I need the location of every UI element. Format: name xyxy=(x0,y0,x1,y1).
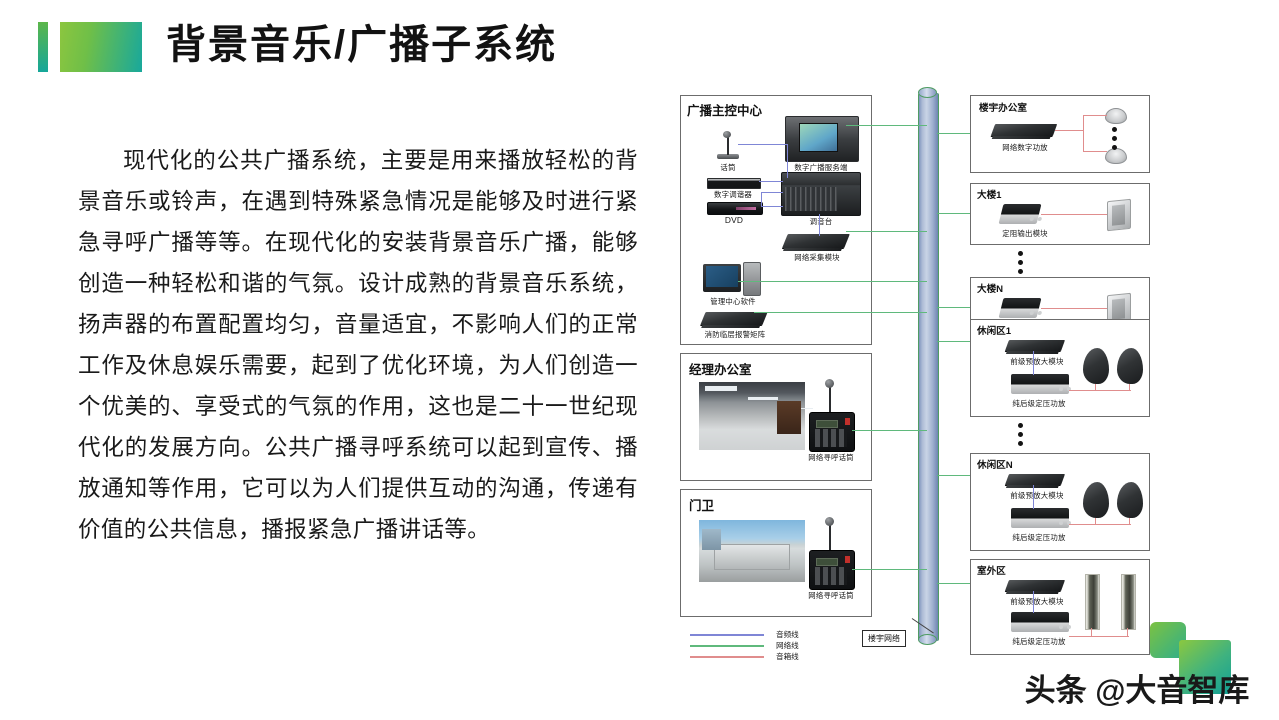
panel-manager-office: 经理办公室 网络寻呼话筒 xyxy=(680,353,872,481)
network-wire xyxy=(754,312,927,313)
panel-building-1: 大楼1 定阻输出模块 xyxy=(970,183,1150,245)
panel-title: 大楼N xyxy=(977,281,1003,295)
speaker-wire xyxy=(1083,151,1107,152)
watermark-text: 头条 @大音智库 xyxy=(995,665,1279,710)
device-label: 网络采集模块 xyxy=(794,252,840,263)
network-digital-amplifier-icon xyxy=(991,124,1057,136)
page-title: 背景音乐/广播子系统 xyxy=(166,14,557,76)
projection-speaker-icon xyxy=(1117,348,1143,384)
speaker-wire xyxy=(1041,308,1107,309)
leisure-repeat-ellipsis xyxy=(1018,423,1023,450)
device-label: 前级预放大模块 xyxy=(1010,356,1063,367)
paging-mic-stem-icon xyxy=(829,524,831,552)
network-capture-module-icon xyxy=(782,234,850,248)
device-label: 管理中心软件 xyxy=(710,296,756,307)
preamplifier-module-icon xyxy=(1005,580,1065,591)
paging-mic-head-icon xyxy=(825,517,834,526)
speaker-wire xyxy=(1129,384,1130,391)
network-wire xyxy=(846,231,927,232)
network-wire xyxy=(937,475,970,476)
speaker-wire xyxy=(1041,214,1107,215)
device-label: 网络数字功放 xyxy=(1002,142,1048,153)
digital-tuner-icon xyxy=(707,178,761,189)
speaker-wire xyxy=(1095,518,1096,525)
speaker-wire xyxy=(1055,130,1083,131)
accent-bar-large xyxy=(60,22,142,72)
legend-label: 网络线 xyxy=(776,640,799,651)
network-paging-microphone-icon xyxy=(809,550,855,590)
panel-title: 室外区 xyxy=(977,563,1006,577)
speaker-wire xyxy=(1083,115,1107,116)
device-label: 前级预放大模块 xyxy=(1010,596,1063,607)
panel-leisure-area-n: 休闲区N 前级预放大模块 纯后级定压功放 xyxy=(970,453,1150,551)
backbone-top-cap xyxy=(918,87,937,98)
panel-title: 大楼1 xyxy=(977,187,1002,201)
speaker-repeat-ellipsis xyxy=(1112,127,1117,154)
power-amplifier-icon xyxy=(1011,374,1069,394)
device-label: 前级预放大模块 xyxy=(1010,490,1063,501)
management-software-tower-icon xyxy=(743,262,761,296)
device-label: 纯后级定压功放 xyxy=(1012,398,1065,409)
building-network-backbone xyxy=(918,93,939,641)
preamplifier-module-icon xyxy=(1005,340,1065,351)
digital-broadcast-server-icon xyxy=(785,116,859,162)
speaker-wire xyxy=(1083,115,1084,151)
mixing-console-icon xyxy=(781,172,861,216)
power-amplifier-icon xyxy=(1011,508,1069,528)
accent-bar-small xyxy=(38,22,48,72)
legend-swatch xyxy=(690,645,764,647)
network-wire xyxy=(738,281,927,282)
device-label: 纯后级定压功放 xyxy=(1012,532,1065,543)
system-architecture-diagram: 楼宇网络 广播主控中心 话筒 数字广播服务端 数字调谐器 DVD 调音台 网络采… xyxy=(670,85,1170,665)
fire-alarm-matrix-icon xyxy=(700,312,767,325)
microphone-head-icon xyxy=(723,131,731,138)
network-wire xyxy=(852,430,927,431)
projection-speaker-icon xyxy=(1117,482,1143,518)
device-label: 网络寻呼话筒 xyxy=(808,452,854,463)
panel-title: 门卫 xyxy=(689,495,714,514)
legend-label: 音箱线 xyxy=(776,651,799,662)
audio-wire xyxy=(1033,591,1034,613)
panel-building-office: 楼宇办公室 网络数字功放 xyxy=(970,95,1150,173)
legend-label: 音频线 xyxy=(776,629,799,640)
device-label: 话筒 xyxy=(720,162,735,173)
projection-speaker-icon xyxy=(1083,482,1109,518)
panel-title: 休闲区1 xyxy=(977,323,1011,337)
network-wire xyxy=(937,307,970,308)
audio-wire xyxy=(787,144,788,178)
network-wire xyxy=(937,341,970,342)
device-label: 定阻输出模块 xyxy=(1002,228,1048,239)
network-paging-microphone-icon xyxy=(809,412,855,452)
speaker-wire xyxy=(1095,384,1096,391)
audio-wire xyxy=(761,192,762,207)
device-label: DVD xyxy=(725,215,743,225)
audio-wire xyxy=(738,144,788,145)
building-repeat-ellipsis xyxy=(1018,251,1023,278)
backbone-label: 楼宇网络 xyxy=(862,630,906,647)
audio-wire xyxy=(1033,485,1034,509)
ceiling-speaker-icon xyxy=(1105,108,1127,124)
gatehouse-photo xyxy=(699,520,805,582)
device-label: 数字调谐器 xyxy=(714,189,752,200)
projection-speaker-icon xyxy=(1083,348,1109,384)
dvd-player-icon xyxy=(707,202,763,215)
device-label: 消防临层报警矩阵 xyxy=(705,329,766,340)
device-label: 调音台 xyxy=(810,216,833,227)
panel-gatehouse: 门卫 网络寻呼话筒 xyxy=(680,489,872,617)
network-wire xyxy=(937,133,970,134)
wall-speaker-icon xyxy=(1107,199,1131,232)
fixed-impedance-output-module-icon xyxy=(999,204,1042,224)
network-wire xyxy=(937,213,970,214)
audio-wire xyxy=(819,214,820,236)
panel-title: 休闲区N xyxy=(977,457,1013,471)
management-software-monitor-icon xyxy=(703,264,741,292)
audio-wire xyxy=(761,192,783,193)
legend-swatch xyxy=(690,656,764,658)
speaker-wire xyxy=(1129,518,1130,525)
panel-leisure-area-1: 休闲区1 前级预放大模块 纯后级定压功放 xyxy=(970,319,1150,417)
watermark: 头条 @大音智库 xyxy=(995,618,1279,720)
speaker-wire xyxy=(1069,524,1131,525)
legend-swatch xyxy=(690,634,764,636)
paging-mic-head-icon xyxy=(825,379,834,388)
device-label: 网络寻呼话筒 xyxy=(808,590,854,601)
network-wire xyxy=(937,583,970,584)
panel-title: 广播主控中心 xyxy=(687,100,762,119)
panel-broadcast-control-center: 广播主控中心 话筒 数字广播服务端 数字调谐器 DVD 调音台 网络采集模块 管… xyxy=(680,95,872,345)
audio-wire xyxy=(759,181,783,182)
audio-wire xyxy=(1033,351,1034,375)
audio-wire xyxy=(761,206,783,207)
backbone-bottom-cap xyxy=(918,634,937,645)
network-wire xyxy=(852,569,927,570)
paging-mic-stem-icon xyxy=(829,386,831,414)
microphone-stem-icon xyxy=(727,136,729,155)
office-photo xyxy=(699,382,805,450)
preamplifier-module-icon xyxy=(1005,474,1065,485)
fixed-impedance-output-module-icon xyxy=(999,298,1042,318)
body-paragraph: 现代化的公共广播系统，主要是用来播放轻松的背景音乐或铃声，在遇到特殊紧急情况是能… xyxy=(78,140,638,550)
speaker-wire xyxy=(1069,390,1131,391)
network-wire xyxy=(846,125,927,126)
panel-title: 楼宇办公室 xyxy=(979,100,1027,114)
panel-title: 经理办公室 xyxy=(689,359,752,378)
